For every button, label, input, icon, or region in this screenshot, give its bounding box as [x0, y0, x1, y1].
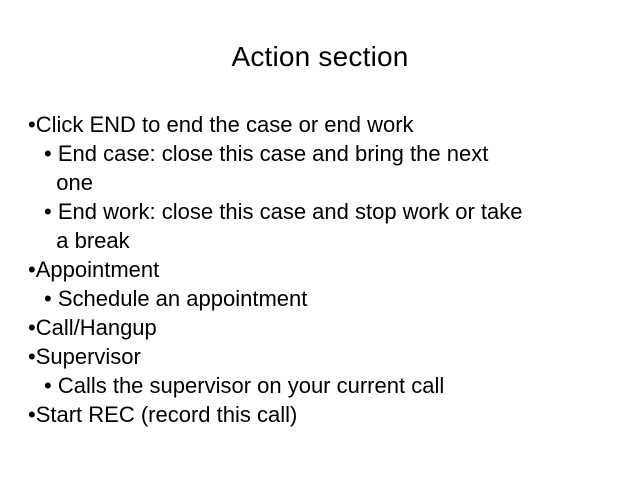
- bullet-line: •Call/Hangup: [28, 313, 628, 342]
- bullet-text: Call/Hangup: [36, 315, 157, 340]
- slide-canvas: Action section •Click END to end the cas…: [0, 0, 640, 480]
- bullet-point-icon: •: [28, 257, 36, 282]
- bullet-point-icon: •: [28, 315, 36, 340]
- bullet-line: •Start REC (record this call): [28, 400, 628, 429]
- bullet-text: a break: [56, 228, 129, 253]
- bullet-line: •Supervisor: [28, 342, 628, 371]
- bullet-point-icon: •: [44, 141, 58, 166]
- bullet-text: Start REC (record this call): [36, 402, 298, 427]
- bullet-line: • End case: close this case and bring th…: [28, 139, 628, 168]
- bullet-line-continuation: one: [28, 168, 628, 197]
- bullet-text: one: [56, 170, 93, 195]
- bullet-list: •Click END to end the case or end work• …: [28, 110, 628, 429]
- bullet-point-icon: •: [28, 112, 36, 137]
- bullet-line: • Calls the supervisor on your current c…: [28, 371, 628, 400]
- bullet-text: Schedule an appointment: [58, 286, 308, 311]
- bullet-text: Appointment: [36, 257, 160, 282]
- bullet-text: Supervisor: [36, 344, 141, 369]
- bullet-point-icon: •: [44, 199, 58, 224]
- bullet-text: Click END to end the case or end work: [36, 112, 414, 137]
- bullet-line: •Appointment: [28, 255, 628, 284]
- bullet-line: • Schedule an appointment: [28, 284, 628, 313]
- bullet-point-icon: •: [44, 286, 58, 311]
- bullet-text: Calls the supervisor on your current cal…: [58, 373, 444, 398]
- bullet-point-icon: •: [28, 344, 36, 369]
- bullet-point-icon: •: [44, 373, 58, 398]
- bullet-line-continuation: a break: [28, 226, 628, 255]
- bullet-indent-spacer: [44, 228, 56, 253]
- bullet-point-icon: •: [28, 402, 36, 427]
- bullet-indent-spacer: [44, 170, 56, 195]
- bullet-text: End case: close this case and bring the …: [58, 141, 488, 166]
- bullet-line: • End work: close this case and stop wor…: [28, 197, 628, 226]
- page-title: Action section: [0, 40, 640, 74]
- bullet-line: •Click END to end the case or end work: [28, 110, 628, 139]
- bullet-text: End work: close this case and stop work …: [58, 199, 523, 224]
